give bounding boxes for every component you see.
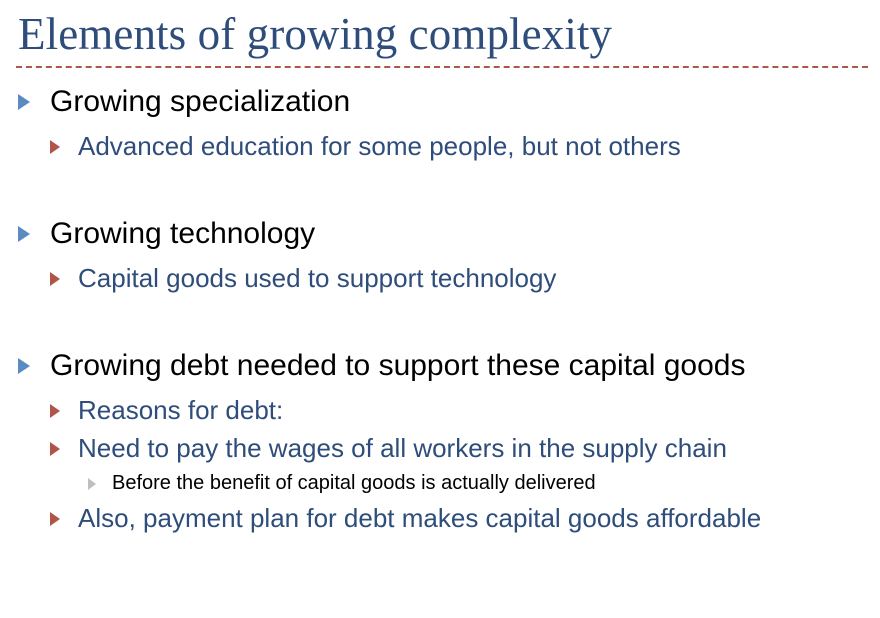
bullet-group-1: Growing specialization Advanced educatio… <box>0 84 880 162</box>
list-item-label: Advanced education for some people, but … <box>78 130 880 162</box>
slide: Elements of growing complexity Growing s… <box>0 0 880 618</box>
list-item-label: Growing debt needed to support these cap… <box>50 348 880 384</box>
bullet-group-3: Growing debt needed to support these cap… <box>0 348 880 534</box>
list-item[interactable]: Growing technology <box>0 216 880 252</box>
spacer <box>0 120 880 130</box>
bullet-group-2: Growing technology Capital goods used to… <box>0 216 880 294</box>
spacer <box>0 294 880 348</box>
list-item-label: Growing technology <box>50 216 880 252</box>
list-item[interactable]: Capital goods used to support technology <box>0 262 880 294</box>
list-item-label: Before the benefit of capital goods is a… <box>112 470 880 496</box>
page-title: Elements of growing complexity <box>18 8 612 60</box>
triangle-right-icon <box>50 512 60 526</box>
triangle-right-icon <box>88 478 96 490</box>
list-item[interactable]: Growing debt needed to support these cap… <box>0 348 880 384</box>
bullet-list: Growing specialization Advanced educatio… <box>0 84 880 534</box>
spacer <box>0 252 880 262</box>
triangle-right-icon <box>18 94 30 110</box>
list-item-label: Growing specialization <box>50 84 880 120</box>
triangle-right-icon <box>50 140 60 154</box>
list-item[interactable]: Before the benefit of capital goods is a… <box>0 470 880 496</box>
triangle-right-icon <box>18 226 30 242</box>
list-item-label: Capital goods used to support technology <box>78 262 880 294</box>
spacer <box>0 162 880 216</box>
title-divider <box>16 66 868 68</box>
list-item[interactable]: Need to pay the wages of all workers in … <box>0 432 880 464</box>
triangle-right-icon <box>50 272 60 286</box>
triangle-right-icon <box>50 404 60 418</box>
title-block: Elements of growing complexity <box>0 0 880 72</box>
list-item-label: Also, payment plan for debt makes capita… <box>78 502 880 534</box>
list-item[interactable]: Advanced education for some people, but … <box>0 130 880 162</box>
list-item[interactable]: Growing specialization <box>0 84 880 120</box>
triangle-right-icon <box>50 442 60 456</box>
list-item[interactable]: Also, payment plan for debt makes capita… <box>0 502 880 534</box>
list-item[interactable]: Reasons for debt: <box>0 394 880 426</box>
list-item-label: Need to pay the wages of all workers in … <box>78 432 880 464</box>
triangle-right-icon <box>18 358 30 374</box>
spacer <box>0 384 880 394</box>
list-item-label: Reasons for debt: <box>78 394 880 426</box>
